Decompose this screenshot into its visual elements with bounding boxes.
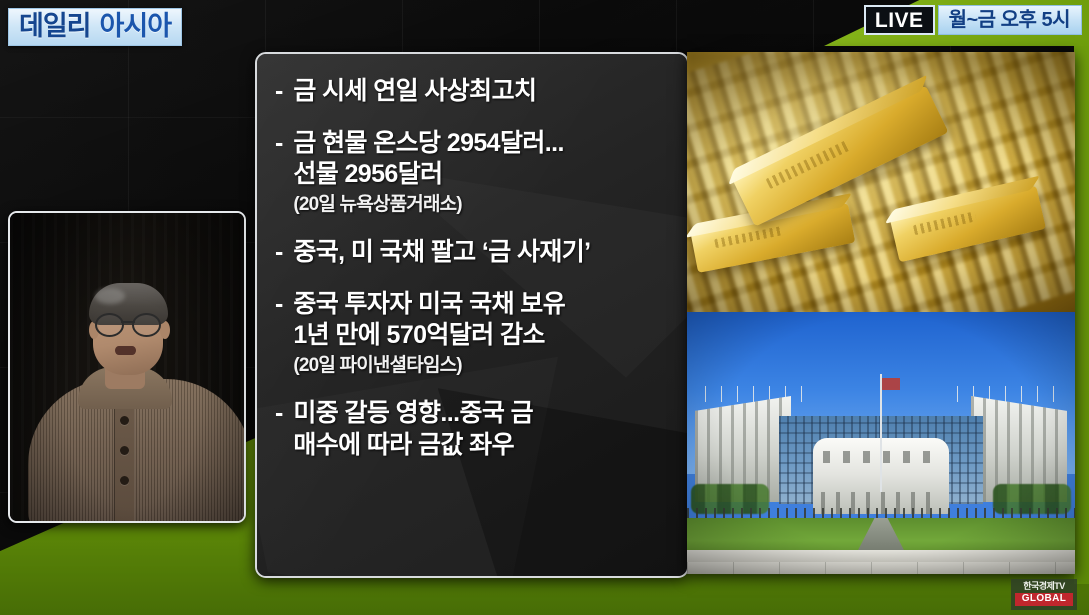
live-status-bar: LIVE 월~금 오후 5시 — [864, 5, 1082, 35]
cardigan-button — [120, 446, 129, 455]
gold-bars-scene — [687, 52, 1075, 312]
bullet-list: - 금 시세 연일 사상최고치 - 금 현물 온스당 2954달러... 선물 … — [257, 54, 687, 461]
peoples-bank-of-china-building-photo — [687, 312, 1075, 574]
guest-mouth — [115, 346, 136, 355]
bullet-source: (20일 뉴욕상품거래소) — [293, 193, 671, 218]
bullet-source: (20일 파이낸셜타임스) — [293, 354, 671, 379]
cardigan-button — [120, 476, 129, 485]
bullet-item: - 미중 갈등 영향...중국 금 매수에 따라 금값 좌우 — [275, 398, 671, 461]
bullet-line: 금 시세 연일 사상최고치 — [293, 76, 671, 108]
glasses-lens-right — [132, 313, 161, 337]
bullet-line: 금 현물 온스당 2954달러... — [293, 128, 671, 160]
studio-guest-video — [10, 213, 244, 521]
watermark-network-name: 한국경제TV — [1015, 582, 1073, 591]
cardigan-placket — [114, 393, 135, 521]
media-stack — [687, 52, 1075, 574]
bullet-item: - 금 현물 온스당 2954달러... 선물 2956달러 (20일 뉴욕상품… — [275, 128, 671, 218]
bullet-dash: - — [275, 289, 283, 320]
watermark-global-badge: GLOBAL — [1015, 593, 1073, 606]
green-right-edge-strip — [1074, 24, 1089, 584]
bullet-item: - 금 시세 연일 사상최고치 — [275, 76, 671, 108]
bullet-line: 매수에 따라 금값 좌우 — [293, 430, 671, 462]
bullet-dash: - — [275, 76, 283, 107]
glasses-lens-left — [95, 313, 124, 337]
speaker-video-box — [8, 211, 246, 523]
bullet-line: 선물 2956달러 — [293, 159, 671, 191]
glasses-bridge — [121, 321, 135, 323]
broadcast-screen: 데일리 아시아 LIVE 월~금 오후 5시 — [0, 0, 1089, 615]
bullet-line: 1년 만에 570억달러 감소 — [293, 320, 671, 352]
schedule-chip: 월~금 오후 5시 — [938, 5, 1082, 35]
bullet-line: 중국, 미 국채 팔고 ‘금 사재기’ — [293, 237, 671, 269]
channel-watermark: 한국경제TV GLOBAL — [1011, 579, 1077, 610]
flag — [882, 378, 900, 390]
bullet-item: - 중국, 미 국채 팔고 ‘금 사재기’ — [275, 237, 671, 269]
cardigan-button — [120, 416, 129, 425]
bullet-dash: - — [275, 128, 283, 159]
bullet-item: - 중국 투자자 미국 국채 보유 1년 만에 570억달러 감소 (20일 파… — [275, 289, 671, 379]
bullet-dash: - — [275, 237, 283, 268]
logo-word-daily: 데일리 — [19, 13, 91, 40]
bank-building-scene — [687, 312, 1075, 574]
channel-logo: 데일리 아시아 — [8, 8, 182, 46]
gold-bars-photo — [687, 52, 1075, 312]
guest-glasses — [94, 313, 162, 333]
road-pavement — [687, 562, 1075, 574]
live-badge: LIVE — [864, 5, 935, 35]
bullet-line: 중국 투자자 미국 국채 보유 — [293, 289, 671, 321]
headline-panel: - 금 시세 연일 사상최고치 - 금 현물 온스당 2954달러... 선물 … — [255, 52, 689, 578]
bullet-line: 미중 갈등 영향...중국 금 — [293, 398, 671, 430]
flagpole — [880, 374, 882, 492]
bullet-dash: - — [275, 398, 283, 429]
logo-word-asia: 아시아 — [100, 13, 172, 40]
